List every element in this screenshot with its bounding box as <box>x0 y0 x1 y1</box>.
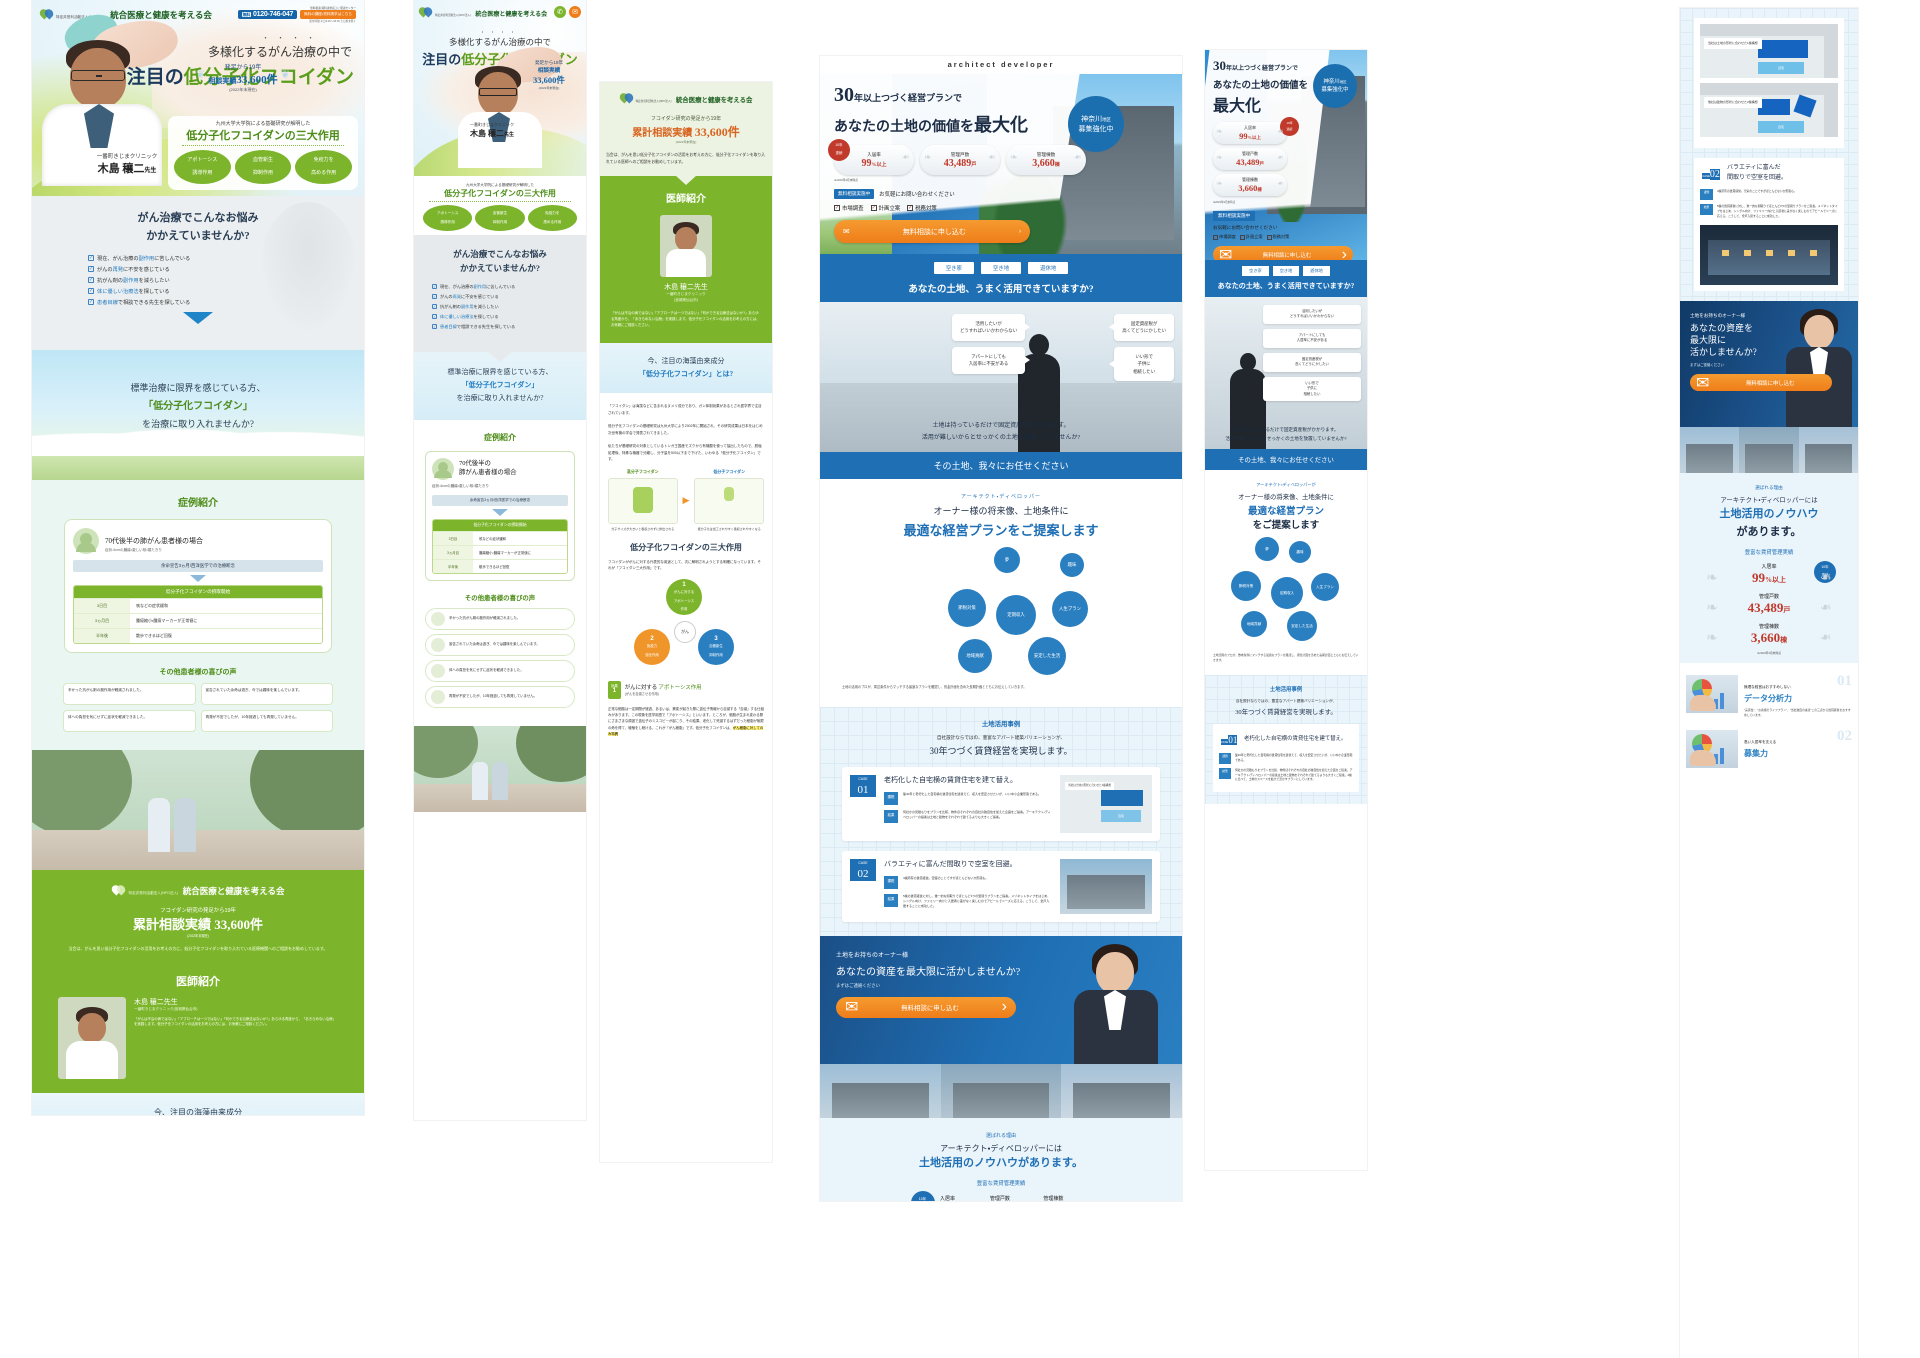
c1-badge-note: (2022年末現在) <box>200 87 286 93</box>
c4-value-bubble: 趣味 <box>1060 553 1084 577</box>
c2-voice-row: 体への負担を気にせずに症状を軽減できました。 <box>425 660 575 682</box>
c4-case-card: CASE02 バラエティに富んだ間取りで空室を回避。課題4棟所有の賃貸経営。空室… <box>842 851 1160 922</box>
c6-owner-cta-section: 土地をお持ちのオーナー様 あなたの資産を最大限に活かしませんか? まずはご連絡く… <box>1680 301 1858 427</box>
c4-speech-bubble: 固定資産税が高くてどうにかしたい <box>1114 314 1174 341</box>
c4-hero-cta[interactable]: ✉ 無料相談に申し込む › <box>834 220 1030 243</box>
c3-note-text: 正常な細胞は一定期間が経過、あるいは、異変が起きた際に遺伝子情報から自滅する「自… <box>608 706 764 737</box>
c5-hero-cta-label: 無料相談に申し込む <box>1237 251 1336 259</box>
c4-case-row: 課題築40年と老朽化した自宅横の賃貸住宅を建替えて、収入を安定させたいが、いい中… <box>884 792 1052 805</box>
c2-logo[interactable]: 特定非営利活動法人(NPO法人) 統合医療と健康を考える会 <box>419 4 547 21</box>
c4-reason-line4: 豊富な賃貸管理実績 <box>820 1179 1182 1187</box>
c1-phone-digits: 0120-746-047 <box>253 11 293 18</box>
c3-blue-section: 今、注目の海藻由来成分 「低分子化フコイダン」とは? <box>600 343 772 394</box>
c6-reason-section: 選ばれる理由 アーキテクト・ディベロッパーには 土地活用のノウハウ があります。… <box>1680 473 1858 663</box>
c6-feature-list: 01無理な経営はおすすめしないデータ分析力"実需性"、"お客様のライフプラン"、… <box>1680 663 1858 780</box>
c4-land-tab[interactable]: 遊休地 <box>1028 262 1068 274</box>
c4-free-badge: 無料相談実施中 <box>834 189 874 199</box>
c2-case-card: 70代後半の肺がん患者様の場合 症状:4cmの腫瘍・激しい咳・寝たきり 余命宣告… <box>425 451 575 581</box>
c6-case-row: 課題4棟所有の賃貸経営。空室のことですがほとんどないか形態も。 <box>1700 189 1838 200</box>
c2-voice-row: 再発が不安でしたが、10年経過しても再発していません。 <box>425 686 575 708</box>
c2-timeline-row: 3ヵ月目腫瘍縮小・腫瘍マーカーが正常値に <box>433 545 567 559</box>
c1-green-org-type: 特定非営利活動法人(NPO法人) <box>129 891 179 895</box>
c4-reason-line1: 選ばれる理由 <box>820 1132 1182 1139</box>
c6-diagram-other: 自宅 他社は建物の形状に合わせた2棟構想 <box>1700 83 1838 137</box>
chevron-right-icon: › <box>1342 246 1347 261</box>
c3-venn-circle: 3血管新生抑制作用 <box>698 629 734 665</box>
c1-phone-hours: 受付時間 平日9:00〜18:00 土日祝を除く <box>238 19 356 23</box>
lp-mockup-fucoidan-narrow-a: 特定非営利活動法人(NPO法人) 統合医療と健康を考える会 ✆ ✉ ・・・・ 多… <box>414 0 586 1120</box>
check-icon: ✓ <box>432 324 437 329</box>
c5-speech-bubble: アパートにしても入居率に不安がある <box>1263 329 1361 348</box>
c4-photo-strip <box>820 1064 1182 1118</box>
c6-case-row: 結果5棟の賃貸経営に対し、進一的な間取りでほとんど3つの型間りプランをご提案。メ… <box>1700 204 1838 219</box>
c4-land-type-tabs: 空き家空き地遊休地 <box>820 262 1182 274</box>
mail-icon: ✉ <box>1696 373 1709 393</box>
c4-owner-line3: まずはご連絡ください <box>836 983 1182 989</box>
c4-proposal-brand: アーキテクト・ディベロッパー <box>820 493 1182 500</box>
c1-contact-block: 無料相談・資料請求窓口/ご相談センター 無料0120-746-047 無料の講座… <box>238 6 356 23</box>
c4-street-section: 活用したいがどうすればいいかわからないアパートにしても入居率に不安がある 固定資… <box>820 302 1182 452</box>
c4-h2-highlight: 最大化 <box>974 115 1028 135</box>
c1-timeline-row: 半年後散歩できるほど回復 <box>74 628 322 643</box>
c1-phone-number[interactable]: 無料0120-746-047 <box>238 10 297 19</box>
c1-doc-intro-photo <box>58 997 126 1079</box>
c1-voices-title: その他患者様の喜びの声 <box>32 667 364 677</box>
c4-kpi: 管理戸数43,489戸 <box>920 145 1000 175</box>
c5-tag: ✓計画立案 <box>1240 234 1263 240</box>
c4-band-title: あなたの土地、うまく活用できていますか? <box>820 281 1182 295</box>
c1-doctor-name: 木島 穰二 <box>98 163 145 175</box>
c1-voices-section: その他患者様の喜びの声 辛かった抗がん剤の副作用が軽減されました。宣告されていた… <box>32 667 364 732</box>
c4-reason-section: 選ばれる理由 アーキテクト・ディベロッパーには 土地活用のノウハウがあります。 … <box>820 1118 1182 1201</box>
c5-tag: ✓市場調査 <box>1213 234 1236 240</box>
c2-worry-item: ✓抗がん剤の副作用を減らしたい <box>432 304 568 310</box>
c4-cases-sub2: 30年つづく賃貸経営を実現します。 <box>820 744 1182 757</box>
c4-reason-kpi: 10年連続 入居率99%以上 <box>931 1195 965 1201</box>
c4-proposal-line3: 最適な経営プランをご提案します <box>820 520 1182 539</box>
c2-worry-item: ✓現在、がん治療の副作用に苦しんでいる <box>432 284 568 290</box>
c2-doctor-caption: 一番町きじまクリニック 木島 穰二先生 <box>432 122 552 139</box>
c4-value-bubble: 人生プラン <box>1052 591 1088 627</box>
c4-region-badge: 神奈川地区 募集強化中 <box>1068 96 1124 152</box>
c6-feature-row: 02高い入居率を支える募集力 <box>1686 724 1852 774</box>
c1-timeline: 低分子化フコイダンの摂取開始 3日目咳などの症状緩和3ヵ月目腫瘍縮小・腫瘍マーカ… <box>73 585 323 644</box>
c3-cmp-b-cap: 低分子化は加工されやすく吸収されやすくなる <box>694 527 764 532</box>
check-icon: ✓ <box>834 205 840 211</box>
c6-diagram-section: 自宅 当社は土地の形状に合わせた1棟構想 自宅 他社は建物の形状に合わせた2棟構… <box>1680 8 1858 301</box>
c4-reason-kpi: 管理戸数43,489戸 <box>979 1195 1022 1201</box>
c1-doc-intro-text: 「がんは不治の病ではない」「アプローチは一つではない」「何かできる治療法はないか… <box>134 1017 338 1028</box>
c5-band-title: あなたの土地、うまく活用できていますか? <box>1205 281 1367 291</box>
c4-h1-num: 30 <box>834 84 854 106</box>
c4-owner-cta-button[interactable]: ✉ 無料相談に申し込む › <box>836 997 1016 1018</box>
c3-doctor-name: 木島 穰二先生 <box>611 282 761 292</box>
c1-three-effects-box: 九州大学大学院による基礎研究が解明した 低分子化フコイダンの三大作用 アポトーシ… <box>168 116 358 190</box>
c3-header-section: 特定非営利活動法人(NPO法人) 統合医療と健康を考える会 フコイダン研究の発足… <box>600 82 772 176</box>
c4-proposal-section: アーキテクト・ディベロッパー オーナー様の将来像、土地条件に 最適な経営プランを… <box>820 479 1182 707</box>
c2-arrow-icon <box>492 509 508 516</box>
lp-mockup-realestate-wide: architect developer ✉ 無料相談に申し込む › 神奈川地区 … <box>820 56 1182 1201</box>
c1-sky-section: 標準治療に限界を感じている方、 「低分子化フコイダン」 を治療に取り入れませんか… <box>32 350 364 480</box>
c5-kpi: 管理戸数43,489戸 <box>1213 148 1287 170</box>
c2-org-name: 統合医療と健康を考える会 <box>475 12 547 18</box>
c2-hero-sub-text: 多様化するがん治療の中で <box>449 37 551 47</box>
c4-kpi-row: 10年連続 入居率99%以上 管理戸数43,489戸 管理棟数3,660棟 <box>834 145 1182 175</box>
c4-cases-section: 土地活用事例 自社設計ならではの、豊富なアパート建築バリエーションが、 30年つ… <box>820 707 1182 936</box>
c2-case-section: 症例紹介 70代後半の肺がん患者様の場合 症状:4cmの腫瘍・激しい咳・寝たきり… <box>414 420 586 726</box>
c3-p1: 「フコイダン」は海藻などに含まれるヌメリ成分であり、ガン抑制効果があるとされ医学… <box>608 403 764 416</box>
c6-feature-photo <box>1686 730 1738 768</box>
check-icon: ✓ <box>88 277 94 283</box>
c1-voice-card: 宣告されていた余命は過ぎ、今では趣味を楽しんでいます。 <box>201 683 334 705</box>
c5-value-bubble: 安定した生活 <box>1287 611 1317 641</box>
c1-hero-dots: ・・・・ <box>32 33 322 43</box>
c4-tag-row: ✓市場調査✓計画立案✓税務対策 <box>834 204 1182 212</box>
c3-venn-circle: 2免疫力強化作用 <box>634 629 670 665</box>
check-icon: ✓ <box>907 205 913 211</box>
check-icon: ✓ <box>88 266 94 272</box>
c6-owner-line1: 土地をお持ちのオーナー様 <box>1690 313 1858 319</box>
patient-avatar-icon <box>432 458 454 480</box>
c5-kpi: 10年連続 入居率99%以上 <box>1213 122 1287 144</box>
check-icon: ✓ <box>1213 235 1218 240</box>
c1-worry-checklist: ✓現在、がん治療の副作用に苦しんでいる✓がんの再発に不安を感じている✓抗がん剤の… <box>88 255 308 306</box>
c3-body-section: 「フコイダン」は海藻などに含まれるヌメリ成分であり、ガン抑制効果があるとされ医学… <box>600 393 772 749</box>
c4-reason-line2: アーキテクト・ディベロッパーには <box>820 1143 1182 1154</box>
check-icon: ✓ <box>871 205 877 211</box>
c1-org-name: 統合医療と健康を考える会 <box>110 10 212 20</box>
c4-kpi: 10年連続 入居率99%以上 <box>834 145 914 175</box>
patient-avatar-icon <box>73 528 99 554</box>
c2-hero: 特定非営利活動法人(NPO法人) 統合医療と健康を考える会 ✆ ✉ ・・・・ 多… <box>414 0 586 176</box>
c4-case-row: 結果何社かの見積もりをプランを比較、物件ほそれぞれの自社の独自性を加えた企画をご… <box>884 810 1052 823</box>
c1-voice-card: 辛かった抗がん剤の副作用が軽減されました。 <box>63 683 196 705</box>
c2-case-symptom: 症状:4cmの腫瘍・激しい咳・寝たきり <box>432 484 568 489</box>
c2-worry-checklist: ✓現在、がん治療の副作用に苦しんでいる✓がんの再発に不安を感じている✓抗がん剤の… <box>432 284 568 330</box>
c2-worry-section: がん治療でこんなお悩み かかえていませんか? ✓現在、がん治療の副作用に苦しんで… <box>414 235 586 352</box>
c5-case-row: 結果何社かの見積もりをプランを比較、物件ほそれぞれの自社の独自性を加えた企画をご… <box>1219 768 1353 782</box>
c5-land-tab[interactable]: 遊休地 <box>1303 266 1330 276</box>
c5-speech-bubble: 活用したいがどうすればいいかわからない <box>1263 305 1361 324</box>
c3-doctor-text: 「がんは不治の病ではない」「アプローチは一つではない」「何かできる治療法はないか… <box>611 311 761 329</box>
c6-diagram-own: 自宅 当社は土地の形状に合わせた1棟構想 <box>1700 24 1838 78</box>
mail-icon: ✉ <box>1219 245 1232 261</box>
c4-land-tab[interactable]: 空き地 <box>981 262 1021 274</box>
c4-street-line2: 活用が難しいからとせっかくの土地を放置していませんか? <box>820 433 1182 444</box>
c6-case-photo <box>1700 225 1838 285</box>
check-icon: ✓ <box>432 314 437 319</box>
c5-case-card: CASE01 老朽化した自宅横の賃貸住宅を建て替え。 課題築40年と老朽化した自… <box>1213 724 1359 792</box>
c1-cta-small[interactable]: 無料の講座・資料請求はこちら <box>300 10 356 19</box>
c2-voices-section: その他患者様の喜びの声 辛かった抗がん剤の副作用が軽減されました。宣告されていた… <box>414 593 586 708</box>
c6-kpi: 管理棟数3,660棟 <box>1686 623 1852 646</box>
c5-value-bubble: 人生プラン <box>1311 573 1339 601</box>
c3-note: (2022年末現在) <box>606 140 766 144</box>
c1-effect-pill: 血管新生抑制作用 <box>235 150 292 184</box>
c1-achievement-badge: 発足から19年 相談実績33,600件 (2022年末現在) <box>200 62 286 93</box>
c2-timeline-row: 3日目咳などの症状緩和 <box>433 531 567 545</box>
c1-doctor-suffix: 先生 <box>144 168 156 174</box>
c5-proposal-line4: をご提案します <box>1213 517 1359 531</box>
c6-kpi-list: 10年連続 入居率99%以上 管理戸数43,489戸 管理棟数3,660棟 <box>1686 563 1852 646</box>
c5-land-tab[interactable]: 空き家 <box>1242 266 1269 276</box>
c5-land-tab[interactable]: 空き地 <box>1273 266 1300 276</box>
c1-three-pill-row: アポトーシス誘導作用血管新生抑制作用免疫力を高める作用 <box>174 150 352 184</box>
c5-kpi-ribbon: 10年連続 <box>1280 117 1299 136</box>
check-icon: ✓ <box>432 284 437 289</box>
c1-worry-item: ✓現在、がん治療の副作用に苦しんでいる <box>88 255 308 262</box>
heart-leaf-logo-icon <box>620 92 633 105</box>
c4-question-band: 空き家空き地遊休地 あなたの土地、うまく活用できていますか? <box>820 254 1182 302</box>
c2-achievement-badge: 発足から19年 相談実績33,600件 (2022年末現在) <box>518 60 580 90</box>
c1-sky-line3: を治療に取り入れませんか? <box>32 416 364 433</box>
c3-venn-center: がん <box>674 621 696 643</box>
c2-worry-item: ✓がんの再発に不安を感じている <box>432 294 568 300</box>
check-icon: ✓ <box>88 288 94 294</box>
c5-value-bubble: 定期収入 <box>1271 577 1303 609</box>
c1-case-band: 余命宣告3ヵ月/西洋医学での治療断念 <box>73 560 323 572</box>
c4-proposal-caption: 土地の活用のプロが、周辺条件からマッチする最適なプランを確認し、資金計画を含めた… <box>842 685 1160 691</box>
c6-reason-line1: 選ばれる理由 <box>1686 485 1852 491</box>
avatar <box>431 638 445 652</box>
c5-land-type-tabs: 空き家空き地遊休地 <box>1205 266 1367 276</box>
c6-owner-cta-button[interactable]: ✉ 無料相談に申し込む <box>1690 374 1832 391</box>
c5-proposal-section: アーキテクト・ディベロッパーが オーナー様の将来像、土地条件に 最適な経営プラン… <box>1205 470 1367 675</box>
c4-cases-head: 土地活用事例 <box>820 719 1182 728</box>
c2-worry-item: ✓患者目線で相談できる先生を探している <box>432 324 568 330</box>
c2-hero-sub: ・・・・ 多様化するがん治療の中で <box>414 29 586 48</box>
c1-hero-sub: ・・・・ 多様化するがん治療の中で <box>32 33 352 60</box>
c4-owner-cta-section: 土地をお持ちのオーナー様 あなたの資産を最大限に活かしませんか? まずはご連絡く… <box>820 936 1182 1064</box>
c6-reason-line2: アーキテクト・ディベロッパーには <box>1686 495 1852 504</box>
c3-three-text: フコイダンががんに対する代表的な用途として、次に解明されようとする明確になってい… <box>608 559 764 572</box>
c1-green-line1: フコイダン研究の発足から19年 <box>32 906 364 914</box>
lp-mockup-fucoidan-narrow-b: 特定非営利活動法人(NPO法人) 統合医療と健康を考える会 フコイダン研究の発足… <box>600 82 772 1162</box>
c5-street-line2: 活用が難しいからとせっかくの土地を放置していませんか? <box>1205 435 1367 443</box>
c1-doc-intro-title: 医師紹介 <box>32 967 364 997</box>
c5-street-line1: 土地は持っているだけで固定資産税がかかります。 <box>1205 426 1367 434</box>
c1-hero-main: 注目の低分子化フコイダン <box>32 62 354 89</box>
c5-proposal-brand: アーキテクト・ディベロッパーが <box>1213 482 1359 488</box>
c1-effect-pill: 免疫力を高める作用 <box>295 150 352 184</box>
check-icon: ✓ <box>88 299 94 305</box>
c4-speech-bubble: いい形で子供に相続したい <box>1114 347 1174 381</box>
c1-badge-number: 33,600件 <box>236 74 277 86</box>
c1-blue-section: 今、注目の海藻由来成分 「低分子化フコイダン」とは? <box>32 1093 364 1115</box>
c1-arrow-icon <box>190 575 206 582</box>
c3-consult-count: 33,600件 <box>695 125 740 139</box>
c1-case-title: 症例紹介 <box>32 494 364 509</box>
mail-icon[interactable]: ✉ <box>569 6 581 18</box>
c5-hero-cta[interactable]: ✉ 無料相談に申し込む › <box>1213 246 1353 260</box>
c2-voices-list: 辛かった抗がん剤の副作用が軽減されました。宣告されていた余命は過ぎ、今では趣味を… <box>425 608 575 708</box>
heart-leaf-logo-icon <box>419 6 432 19</box>
c6-reason-line3: 土地活用のノウハウ <box>1720 508 1819 520</box>
c6-owner-cta-label: 無料相談に申し込む <box>1714 379 1826 387</box>
c5-value-bubble: 趣味 <box>1289 541 1311 563</box>
mail-icon: ✉ <box>845 997 858 1017</box>
c3-lead: 当会は、がんを思い低分子化フコイダンの活用をお考えの方に、低分子化フコイダンを取… <box>606 152 766 166</box>
c4-land-tab[interactable]: 空き家 <box>934 262 974 274</box>
c3-effect-row: 効果1 がんに対する アポトーシス作用(がんを自滅させる作用) <box>608 681 764 699</box>
c1-lifestyle-photo <box>32 750 364 870</box>
c4-case-card-list: CASE01 老朽化した自宅横の賃貸住宅を建て替え。課題築40年と老朽化した自宅… <box>820 767 1182 922</box>
c4-reason-kpi: 管理棟数3,660棟 <box>1035 1195 1071 1201</box>
c3-p3: 私たちが基礎研究の対象としているトンガ王国産モズクから有機酸を使って抽出したもの… <box>608 443 764 462</box>
c6-case-card: CASE02 バラエティに富んだ間取りで空室を回避。 課題4棟所有の賃貸経営。空… <box>1694 158 1844 291</box>
c2-voice-row: 辛かった抗がん剤の副作用が軽減されました。 <box>425 608 575 630</box>
c2-worry-title: がん治療でこんなお悩み かかえていませんか? <box>414 247 586 276</box>
c4-kpi: 管理棟数3,660棟 <box>1006 145 1086 175</box>
c4-case-row: 課題4棟所有の賃貸経営。空室のことですがほとんどないか形態も。 <box>884 876 1052 889</box>
c3-venn-diagram: がん 1がんに対するアポトーシス作用2免疫力強化作用3血管新生抑制作用 <box>608 579 764 675</box>
heart-leaf-logo-icon <box>112 884 125 897</box>
check-icon: ✓ <box>1240 235 1245 240</box>
check-icon: ✓ <box>432 304 437 309</box>
c1-worry-item: ✓がんの再発に不安を感じている <box>88 266 308 273</box>
c1-worry-section: がん治療でこんなお悩み かかえていませんか? ✓現在、がん治療の副作用に苦しんで… <box>32 196 364 350</box>
c3-cmp-a-label: 高分子フコイダン <box>608 469 678 475</box>
c4-tag: ✓計画立案 <box>871 204 901 212</box>
c1-doc-intro-clinic: 一番町きじまクリニック(宮城県仙台市) <box>134 1007 338 1012</box>
c1-hero: 特定非営利活動法人(NPO法人) 統合医療と健康を考える会 無料相談・資料請求窓… <box>32 0 364 196</box>
c3-venn-circle: 1がんに対するアポトーシス作用 <box>666 579 702 615</box>
c6-owner-line3: まずはご連絡ください <box>1690 362 1858 367</box>
c1-green-line2: 累計相談実績 33,600件 <box>32 914 364 933</box>
c5-value-bubble: 夢 <box>1255 537 1279 561</box>
c2-case-band: 余命宣告3ヵ月/西洋医学での治療断念 <box>432 495 568 506</box>
c4-tag: ✓税務対策 <box>907 204 937 212</box>
c1-phone-badge: 無料 <box>242 12 251 17</box>
c1-hero-main-1: 注目の <box>127 67 184 88</box>
mail-icon: ✉ <box>843 227 850 236</box>
c1-timeline-row: 3日目咳などの症状緩和 <box>74 598 322 613</box>
avatar <box>431 612 445 626</box>
c3-doctor-photo <box>660 215 712 277</box>
c4-bubbles-left: 活用したいがどうすればいいかわからないアパートにしても入居率に不安がある <box>952 314 1025 380</box>
c1-logo[interactable]: 特定非営利活動法人(NPO法人) 統合医療と健康を考える会 <box>40 6 212 23</box>
c5-h1-num: 30 <box>1213 58 1226 73</box>
c5-region-badge: 神奈川地区 募集強化中 <box>1313 64 1357 108</box>
c2-three-pill-row: アポトーシス誘導作用血管新生抑制作用免疫力を高める作用 <box>423 205 577 231</box>
check-icon: ✓ <box>88 255 94 261</box>
c1-green-cta-section: 特定非営利活動法人(NPO法人) 統合医療と健康を考える会 フコイダン研究の発足… <box>32 870 364 967</box>
c1-voice-card: 再発が不安でしたが、10年経過しても再発していません。 <box>201 710 334 732</box>
c6-feature-photo <box>1686 675 1738 713</box>
c6-photo-strip <box>1680 427 1858 473</box>
c6-reason-line3b: があります。 <box>1737 526 1802 538</box>
c5-value-bubble: 節税対策 <box>1231 571 1261 601</box>
c1-green-org-name: 統合医療と健康を考える会 <box>183 886 285 896</box>
c1-badge-line2: 相談実績 <box>208 77 236 85</box>
c5-tag-row: ✓市場調査✓計画立案✓税務対策 <box>1213 234 1367 240</box>
lp-mockup-realestate-narrow-a: ✉ 無料相談に申し込む › 神奈川地区 募集強化中 30年以上つづく経営プランで… <box>1205 50 1367 1170</box>
c3-cmp-b-label: 低分子フコイダン <box>694 469 764 475</box>
c5-bubbles: 活用したいがどうすればいいかわからないアパートにしても入居率に不安がある固定資産… <box>1263 305 1361 406</box>
c1-worry-title: がん治療でこんなお悩み かかえていませんか? <box>32 210 364 245</box>
c5-free-text: お気軽にお問い合わせください <box>1213 225 1367 231</box>
c3-cmp-a-cap: 分子サイズが大きいと吸収されずに排出される <box>608 527 678 532</box>
c4-tag: ✓市場調査 <box>834 204 864 212</box>
c5-speech-bubble: 固定資産税が高くてどうにかしたい <box>1263 353 1361 372</box>
c3-p2: 低分子化フコイダンの基礎研究は九州大学により2002年に開始され、その研究成果は… <box>608 423 764 436</box>
c1-doctor-intro-section: 医師紹介 木島 穰二先生 一番町きじまクリニック(宮城県仙台市) 「がんは不治の… <box>32 967 364 1093</box>
c5-tag: ✓税務対策 <box>1267 234 1290 240</box>
c5-case-title: 老朽化した自宅横の賃貸住宅を建て替え。 <box>1244 735 1346 743</box>
c5-cases-head: 土地活用事例 <box>1205 685 1367 693</box>
c1-worry-item: ✓抗がん剤の副作用を減らしたい <box>88 277 308 284</box>
c5-question-band: 空き家空き地遊休地 あなたの土地、うまく活用できていますか? <box>1205 260 1367 297</box>
c1-three-title: 低分子化フコイダンの三大作用 <box>174 127 352 143</box>
c3-comparison: 高分子フコイダン 分子サイズが大きいと吸収されずに排出される ▶ 低分子フコイダ… <box>608 469 764 532</box>
c5-value-bubble-map: 夢趣味節税対策定期収入人生プラン地域貢献安定した生活 <box>1213 537 1359 645</box>
c3-doctor-title: 医師紹介 <box>600 190 772 205</box>
phone-icon[interactable]: ✆ <box>554 6 566 18</box>
c4-speech-bubble: アパートにしても入居率に不安がある <box>952 347 1025 374</box>
c4-proposal-line2: オーナー様の将来像、土地条件に <box>820 504 1182 517</box>
c4-owner-line2: あなたの資産を最大限に活かしませんか? <box>836 963 1182 978</box>
c4-cases-sub1: 自社設計ならではの、豊富なアパート建築バリエーションが、 <box>820 734 1182 742</box>
avatar <box>431 690 445 704</box>
c4-speech-bubble: 活用したいがどうすればいいかわからない <box>952 314 1025 341</box>
c4-reason-kpi-row: 10年連続 入居率99%以上 管理戸数43,489戸 管理棟数3,660棟 <box>820 1195 1182 1201</box>
c3-doctor-section: 医師紹介 木島 穰二先生 一番町きじまクリニック(宮城県仙台市) 「がんは不治の… <box>600 176 772 342</box>
c2-effect-pill: アポトーシス誘導作用 <box>423 205 472 231</box>
lp-mockup-fucoidan-wide: 特定非営利活動法人(NPO法人) 統合医療と健康を考える会 無料相談・資料請求窓… <box>32 0 364 1115</box>
c2-worry-item: ✓体に優しい治療法を探している <box>432 314 568 320</box>
c4-owner-line1: 土地をお持ちのオーナー様 <box>836 950 1182 959</box>
c1-green-line3: (2022年末現在) <box>32 933 364 938</box>
arrow-right-icon: ▶ <box>683 469 690 532</box>
c4-kpi-note: ※2023年3月末時点 <box>834 178 1182 182</box>
c1-case-patient: 70代後半の肺がん患者様の場合 <box>105 537 203 545</box>
c4-free-text: お気軽にお問い合わせください <box>879 190 954 198</box>
c6-feature-row: 01無理な経営はおすすめしないデータ分析力"実需性"、"お客様のライフプラン"、… <box>1686 669 1852 724</box>
c5-case-row: 課題築40年と老朽化した自宅横の賃貸住宅を建替えて、収入を安定させたいが、いい中… <box>1219 753 1353 764</box>
c1-effect-pill: アポトーシス誘導作用 <box>174 150 231 184</box>
c4-value-bubble: 安定した生活 <box>1028 637 1066 675</box>
c5-kpi: 管理棟数3,660棟 <box>1213 174 1287 196</box>
chevron-right-icon: › <box>1002 998 1007 1016</box>
c4-street-line1: 土地は持っているだけで固定資産税がかかります。 <box>820 421 1182 432</box>
c4-owner-cta-label: 無料相談に申し込む <box>865 1003 994 1012</box>
c5-value-bubble: 地域貢献 <box>1241 611 1267 637</box>
c2-timeline: 低分子化フコイダンの摂取開始 3日目咳などの症状緩和3ヵ月目腫瘍縮小・腫瘍マーカ… <box>432 519 568 574</box>
c4-reason-line3: 土地活用のノウハウがあります。 <box>820 1154 1182 1170</box>
c2-effect-pill: 血管新生抑制作用 <box>475 205 524 231</box>
c4-value-bubble: 地域貢献 <box>958 639 992 673</box>
lp-mockup-realestate-narrow-b: 自宅 当社は土地の形状に合わせた1棟構想 自宅 他社は建物の形状に合わせた2棟構… <box>1680 8 1858 1358</box>
c1-doc-intro-name: 木島 穰二先生 <box>134 997 338 1007</box>
c4-case-card: CASE01 老朽化した自宅横の賃貸住宅を建て替え。課題築40年と老朽化した自宅… <box>842 767 1160 841</box>
c5-proposal-caption: 土地活用のプロが、敷地条件にマッチする最適なプランを確認し、資金計画を含めた長期… <box>1213 653 1359 663</box>
c1-hero-sub-text: 多様化するがん治療の中で <box>208 45 352 59</box>
c1-clinic-name: 一番町きじまクリニック <box>72 152 182 160</box>
c5-street-section: 活用したいがどうすればいいかわからないアパートにしても入居率に不安がある固定資産… <box>1205 297 1367 449</box>
c4-hero-cta-label: 無料相談に申し込む <box>857 227 1012 237</box>
c5-hero: ✉ 無料相談に申し込む › 神奈川地区 募集強化中 30年以上つづく経営プランで… <box>1205 50 1367 260</box>
heart-leaf-logo-icon <box>40 8 53 21</box>
c4-h1-text: 年以上つづく経営プランで <box>854 93 962 103</box>
c2-three-effects-box: 九州大学大学院による基礎研究が解明した 低分子化フコイダンの三大作用 アポトーシ… <box>419 180 581 235</box>
c5-free-badge: 無料相談実施中 <box>1213 211 1255 221</box>
c1-worry-item: ✓患者目線で相談できる先生を探している <box>88 299 308 306</box>
c5-sub-band: その土地、我々にお任せください <box>1205 449 1367 470</box>
portfolio-board: 特定非営利活動法人(NPO法人) 統合医療と健康を考える会 無料相談・資料請求窓… <box>0 0 1920 1358</box>
c5-cases-sub1: 自社設計ならではの、豊富なアパート建築バリエーションが、 <box>1205 698 1367 704</box>
c2-case-title: 症例紹介 <box>414 432 586 443</box>
c1-case-symptom: 症状:4cmの腫瘍・激しい咳・寝たきり <box>105 548 203 553</box>
